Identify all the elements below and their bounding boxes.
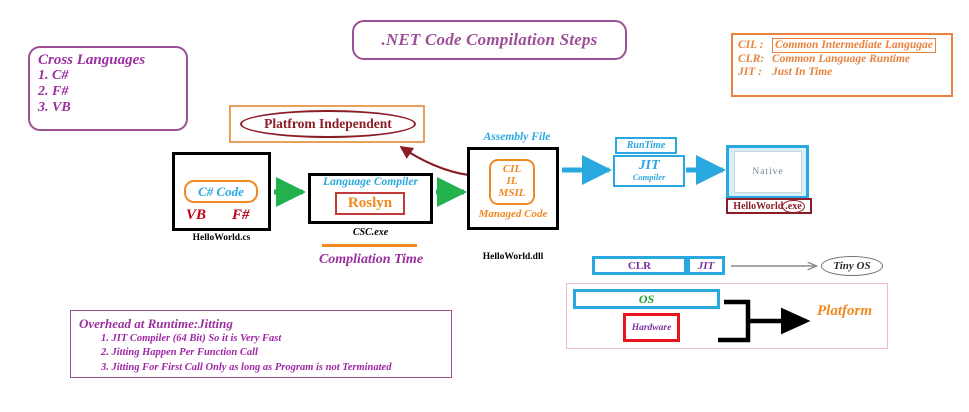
csharp-code-chip: C# Code [184,180,258,203]
cross-languages-panel: Cross Languages 1. C# 2. F# 3. VB [28,46,188,131]
cross-languages-item-3: 3. VB [38,100,178,116]
legend-value-cil: Common Intermediate Langugae [772,38,936,53]
assembly-file-label: Assembly File [462,131,572,143]
legend-key-jit: JIT : [738,66,772,79]
cil-il-msil-chip: CIL IL MSIL [489,159,535,205]
runtime-label: RunTime [627,140,666,151]
native-file-badge: HelloWorld .exe [726,198,812,214]
overhead-panel: Overhead at Runtime:Jitting 1. JIT Compi… [70,310,452,378]
abbreviation-legend: CIL : Common Intermediate Langugae CLR: … [731,33,953,97]
page-title-box: .NET Code Compilation Steps [352,20,627,60]
legend-row-jit: JIT : Just In Time [738,66,946,79]
native-file-extension: .exe [782,200,804,213]
os-label: OS [639,292,654,307]
native-file-name: HelloWorld [733,201,783,212]
cross-languages-item-1: 1. C# [38,68,178,84]
legend-key-cil: CIL : [738,39,772,52]
compilation-time-label: Compliation Time [291,252,451,268]
platform-independent-label: Platfrom Independent [264,116,392,132]
hardware-box: Hardware [623,313,680,342]
legend-row-clr: CLR: Common Language Runtime [738,53,946,66]
jit-stack-box: JIT [687,256,725,275]
vb-language-label: VB [186,207,206,224]
clr-box: CLR [592,256,687,275]
jit-title: JIT [639,159,660,173]
page-title: .NET Code Compilation Steps [381,30,597,50]
tiny-os-callout: Tiny OS [821,256,883,276]
jit-stack-label: JIT [698,260,715,272]
source-file-name: HelloWorld.cs [172,233,271,243]
cross-languages-heading: Cross Languages [38,52,178,68]
compiler-file-name: CSC.exe [308,227,433,238]
runtime-badge: RunTime [615,137,677,154]
msil-label: MSIL [499,188,526,200]
legend-value-jit: Just In Time [772,66,832,79]
platform-label: Platform [817,303,872,320]
overhead-item-3: 3. Jitting For First Call Only as long a… [101,361,443,375]
legend-key-clr: CLR: [738,53,772,66]
overhead-item-1: 1. JIT Compiler (64 Bit) So it is Very F… [101,332,443,346]
diagram-canvas: .NET Code Compilation Steps Cross Langua… [0,0,969,412]
jit-subtitle: Compiler [633,173,666,182]
jit-compiler-box: JIT Compiler [613,155,685,187]
language-compiler-label: Language Compiler [308,176,433,188]
managed-code-label: Managed Code [467,208,559,220]
cross-languages-item-2: 2. F# [38,84,178,100]
roslyn-label: Roslyn [348,195,392,212]
csharp-code-label: C# Code [198,184,244,200]
overhead-title: Overhead at Runtime:Jitting [79,316,443,332]
tiny-os-label: Tiny OS [833,260,870,272]
compilation-time-underline [322,244,417,247]
fsharp-language-label: F# [232,207,250,224]
arrow-assembly-to-platform-independent [401,147,469,175]
clr-label: CLR [628,260,651,272]
legend-row-cil: CIL : Common Intermediate Langugae [738,38,946,53]
hardware-label: Hardware [632,323,672,333]
assembly-file-name: HelloWorld.dll [457,252,569,262]
overhead-item-2: 2. Jitting Happen Per Function Call [101,346,443,360]
roslyn-chip: Roslyn [335,192,405,215]
native-output-inner: Native [734,151,802,193]
native-label: Native [752,167,783,177]
os-box: OS [573,289,720,309]
legend-value-clr: Common Language Runtime [772,53,910,66]
platform-independent-callout: Platfrom Independent [240,110,416,138]
